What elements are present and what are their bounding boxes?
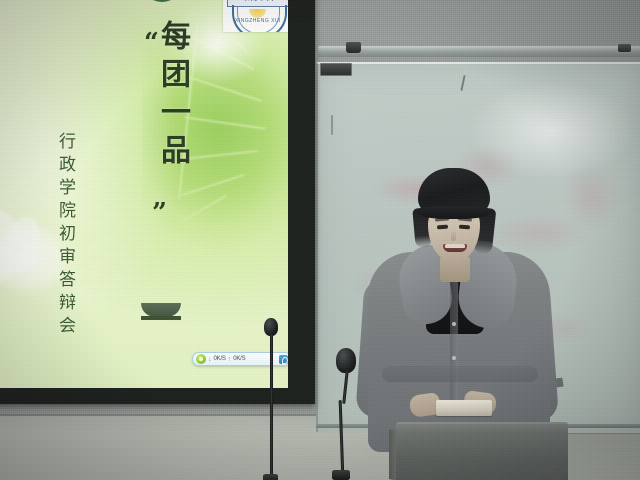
presenter-coat-placket bbox=[450, 272, 458, 416]
whiteboard-rail bbox=[318, 46, 640, 57]
presenter bbox=[352, 168, 562, 448]
projection-screen[interactable]: 以为下大 XINGZHENG XUEYUAN “ 每团一品 ” 行政学院初审答辩… bbox=[0, 0, 288, 388]
shield-icon[interactable] bbox=[196, 354, 206, 364]
screenshot-root: 以为下大 XINGZHENG XUEYUAN “ 每团一品 ” 行政学院初审答辩… bbox=[0, 0, 640, 480]
whiteboard-label bbox=[320, 63, 352, 76]
bracket-ornament-bottom-icon bbox=[141, 303, 181, 323]
podium bbox=[396, 424, 568, 480]
download-arrow-icon: ↓ bbox=[208, 356, 212, 363]
upload-arrow-icon: ↑ bbox=[228, 356, 232, 363]
presenter-teeth bbox=[445, 244, 465, 248]
whiteboard-clip-right bbox=[618, 44, 631, 52]
presenter-eye-right bbox=[459, 225, 470, 229]
slide-main-title: 每团一品 bbox=[139, 20, 195, 172]
slide-quote-close: ” bbox=[152, 198, 165, 228]
beanie-hat-brim bbox=[416, 206, 492, 219]
coat-button-lower bbox=[452, 356, 456, 360]
slide-subtitle: 行政学院初审答辩会 bbox=[48, 132, 78, 339]
emblem-arc-text: XINGZHENG XUEYUAN bbox=[235, 18, 280, 24]
upload-speed-value: 0K/S bbox=[233, 356, 245, 362]
university-emblem: 以为下大 XINGZHENG XUEYUAN bbox=[223, 0, 288, 32]
download-speed-value: 0K/S bbox=[214, 356, 226, 362]
mic-base bbox=[332, 470, 350, 480]
360-ball-icon[interactable] bbox=[279, 355, 288, 364]
paper-notes bbox=[436, 400, 492, 416]
presenter-coat-waist bbox=[382, 366, 538, 382]
whiteboard-clip bbox=[346, 42, 361, 53]
whiteboard-smudge-b bbox=[331, 115, 333, 135]
speed-bar-widget[interactable]: ↓ 0K/S ↑ 0K/S bbox=[192, 352, 288, 366]
presenter-nose bbox=[451, 230, 456, 241]
mic-base bbox=[263, 474, 278, 480]
projection-screen-frame: 以为下大 XINGZHENG XUEYUAN “ 每团一品 ” 行政学院初审答辩… bbox=[0, 0, 315, 404]
coat-button-upper bbox=[452, 322, 456, 326]
